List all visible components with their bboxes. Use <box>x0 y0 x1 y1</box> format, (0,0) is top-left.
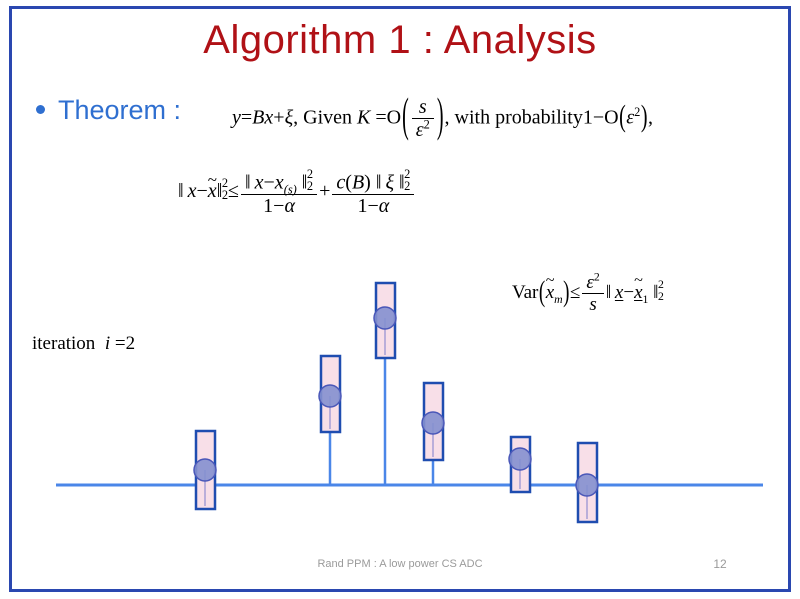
eq1-paren-close: ) <box>437 90 444 145</box>
stem-plot <box>0 0 800 599</box>
errorbar-box <box>424 383 443 460</box>
eq1-frac-numerator: s <box>412 96 434 119</box>
eq1-K: K <box>357 106 370 128</box>
eq2-xi: ξ <box>385 171 394 193</box>
eq3-epsilon: ε <box>586 272 594 293</box>
eq1-one: 1 <box>583 106 593 128</box>
eq2-frac2-denominator: 1−α <box>332 195 414 217</box>
eq1-xi: ξ <box>285 106 294 128</box>
stems-group <box>205 318 520 485</box>
eq2-norm-2-indices: 22 <box>307 168 313 192</box>
eq3-paren-close: ) <box>563 276 569 310</box>
theorem-bullet-row: Theorem : <box>36 97 181 124</box>
slide: Algorithm 1 : Analysis Theorem : y=Bx+ξ,… <box>0 0 800 599</box>
eq1-x: x <box>264 106 273 128</box>
data-point-marker <box>576 474 598 496</box>
eq2-x-s: x <box>275 171 284 193</box>
eq3-one-subscript: 1 <box>643 293 649 306</box>
eq3-frac-numerator: ε2 <box>582 272 603 294</box>
eq2-minus: − <box>197 180 208 202</box>
eq2-frac1-numerator: ‖ x−x(s) ‖22 <box>241 168 317 195</box>
eq2-x-2: x <box>255 171 264 193</box>
eq3-m-subscript: m <box>554 293 563 306</box>
eq1-y: y <box>232 106 241 128</box>
eq3-var: Var <box>512 282 538 303</box>
eq3-paren-open: ( <box>539 276 545 310</box>
eq2-norm-open-2: ‖ <box>245 171 250 193</box>
eq1-O: O <box>387 106 401 128</box>
eq2-norm-open-3: ‖ <box>376 171 381 193</box>
eq2-c: c <box>336 171 345 193</box>
eq3-minus: − <box>623 282 634 303</box>
eq1-epsilon: ε <box>416 119 424 141</box>
data-point-marker <box>374 307 396 329</box>
eq1-fraction: sε2 <box>412 96 434 142</box>
eq1-O-2: O <box>604 106 618 128</box>
iteration-value: 2 <box>126 333 136 354</box>
eq3-norm-close: ‖ <box>653 282 657 303</box>
eq1-minus: − <box>593 106 604 128</box>
data-point-marker <box>194 459 216 481</box>
eq2-tilde-accent: ~ <box>208 170 217 190</box>
data-point-marker <box>509 448 531 470</box>
eq3-epsilon-exponent: 2 <box>594 271 600 284</box>
equation-2: ‖ x−~x‖22≤‖ x−x(s) ‖221−α+c(B) ‖ ξ ‖221−… <box>178 168 416 217</box>
eq2-B: B <box>352 171 364 193</box>
equation-3: Var(~xm)≤ε2s‖ x−~x1 ‖22 <box>512 272 664 316</box>
eq2-x: x <box>188 180 197 202</box>
eq1-with-probability: with probability <box>455 106 583 128</box>
eq1-frac-denominator: ε2 <box>412 119 434 141</box>
eq1-given: Given <box>303 106 352 128</box>
eq3-fraction: ε2s <box>582 272 603 316</box>
data-point-marker <box>422 412 444 434</box>
slide-border-frame <box>9 6 791 592</box>
eq3-x-tilde: ~x <box>546 282 554 304</box>
eq3-norm-indices: 22 <box>658 279 664 302</box>
eq2-fraction-1: ‖ x−x(s) ‖221−α <box>241 168 317 217</box>
errorbar-box <box>511 437 530 492</box>
eq1-comma-1: , <box>293 106 298 128</box>
eq2-norm-close-1: ‖ <box>217 180 222 202</box>
eq2-minus-4: − <box>367 195 378 217</box>
eq2-norm-open-1: ‖ <box>178 180 183 202</box>
footer-page-number: 12 <box>700 557 740 571</box>
errorbar-box <box>578 443 597 522</box>
eq1-epsilon-2-exponent: 2 <box>634 105 640 119</box>
iteration-label: iteration i =2 <box>32 333 135 355</box>
eq2-one-1: 1 <box>263 195 273 217</box>
eq3-norm-sub: 2 <box>658 291 664 303</box>
eq2-plus: + <box>319 180 330 202</box>
iteration-word: iteration <box>32 333 95 354</box>
equation-1: y=Bx+ξ, Given K =O(sε2), with probabilit… <box>232 96 653 142</box>
eq1-paren2-open: ( <box>619 100 626 136</box>
eq1-comma-2: , <box>445 106 450 128</box>
eq2-fraction-2: c(B) ‖ ξ ‖221−α <box>332 168 414 217</box>
eq2-x-tilde: ~x <box>208 180 217 203</box>
eq2-alpha-2: α <box>379 195 390 217</box>
page-title: Algorithm 1 : Analysis <box>0 18 800 62</box>
errorbar-box <box>321 356 340 432</box>
errorbar-box <box>196 431 215 509</box>
eq3-tilde-accent: ~ <box>546 272 554 290</box>
theorem-label: Theorem : <box>58 97 181 124</box>
eq1-comma-3: , <box>648 106 653 128</box>
errorbar-box <box>376 283 395 358</box>
eq2-norm-3-sub: 2 <box>404 180 410 192</box>
eq1-equals: = <box>241 106 252 128</box>
eq3-x-tilde-1: ~x <box>634 282 642 304</box>
eq2-frac2-numerator: c(B) ‖ ξ ‖22 <box>332 168 414 195</box>
eq2-norm-3-indices: 22 <box>404 168 410 192</box>
eq2-norm-close-3: ‖ <box>399 171 404 193</box>
eq1-plus: + <box>273 106 284 128</box>
eq3-leq: ≤ <box>570 282 580 303</box>
eq3-tilde-accent-2: ~ <box>634 272 642 290</box>
eq1-B: B <box>252 106 264 128</box>
eq1-paren-open: ( <box>402 90 409 145</box>
eq2-minus-3: − <box>273 195 284 217</box>
iteration-variable: i <box>105 333 110 354</box>
eq1-paren2-close: ) <box>641 100 648 136</box>
eq3-frac-denominator: s <box>582 294 603 315</box>
eq2-frac1-denominator: 1−α <box>241 195 317 217</box>
data-point-marker <box>319 385 341 407</box>
eq1-epsilon-exponent: 2 <box>424 118 430 132</box>
eq2-one-2: 1 <box>357 195 367 217</box>
bullet-dot-icon <box>36 105 45 114</box>
data-point-markers-group <box>194 307 598 496</box>
eq1-epsilon-2: ε <box>626 106 634 128</box>
eq2-norm-2-sub: 2 <box>307 180 313 192</box>
errorbar-boxes-group <box>196 283 597 522</box>
footer-text: Rand PPM : A low power CS ADC <box>0 558 800 570</box>
eq2-norm-close-2: ‖ <box>302 171 307 193</box>
eq1-equals-2: = <box>375 106 386 128</box>
eq3-norm-open: ‖ <box>606 282 610 303</box>
eq2-minus-2: − <box>264 171 275 193</box>
eq2-leq: ≤ <box>228 180 239 202</box>
iteration-equals: = <box>115 333 126 354</box>
eq2-alpha-1: α <box>284 195 295 217</box>
